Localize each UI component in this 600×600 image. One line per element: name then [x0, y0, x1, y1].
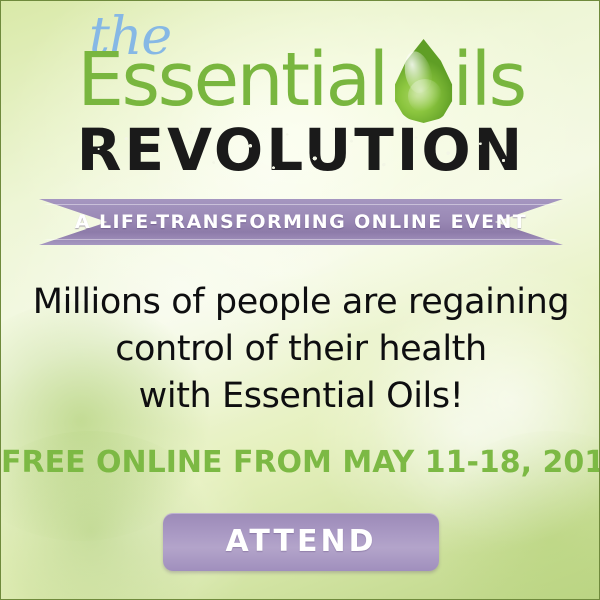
tagline-line-2: control of their health — [1, 326, 600, 373]
oil-drop-icon — [393, 39, 455, 123]
event-date-line: FREE ONLINE FROM MAY 11-18, 2015 — [1, 445, 600, 480]
ribbon-label: A LIFE-TRANSFORMING ONLINE EVENT — [39, 199, 563, 245]
event-ribbon: A LIFE-TRANSFORMING ONLINE EVENT — [39, 199, 563, 245]
tagline: Millions of people are regaining control… — [1, 279, 600, 420]
logo-word-revolution: REVOLUTION — [77, 121, 525, 179]
logo-word-oils: ils — [453, 37, 525, 123]
oil-drop-inner-glow — [408, 79, 442, 113]
essential-oils-revolution-banner: the Essentialils REVOLUTION A LIFE-TRANS… — [0, 0, 600, 600]
brand-logo: the Essentialils REVOLUTION — [1, 7, 600, 179]
logo-title-line: the Essentialils — [1, 7, 600, 125]
attend-button[interactable]: ATTEND — [163, 513, 439, 571]
tagline-line-1: Millions of people are regaining — [1, 279, 600, 326]
logo-word-essential: Essential — [77, 37, 386, 123]
logo-essential-oils-line: Essentialils — [1, 39, 600, 123]
tagline-line-3: with Essential Oils! — [1, 373, 600, 420]
